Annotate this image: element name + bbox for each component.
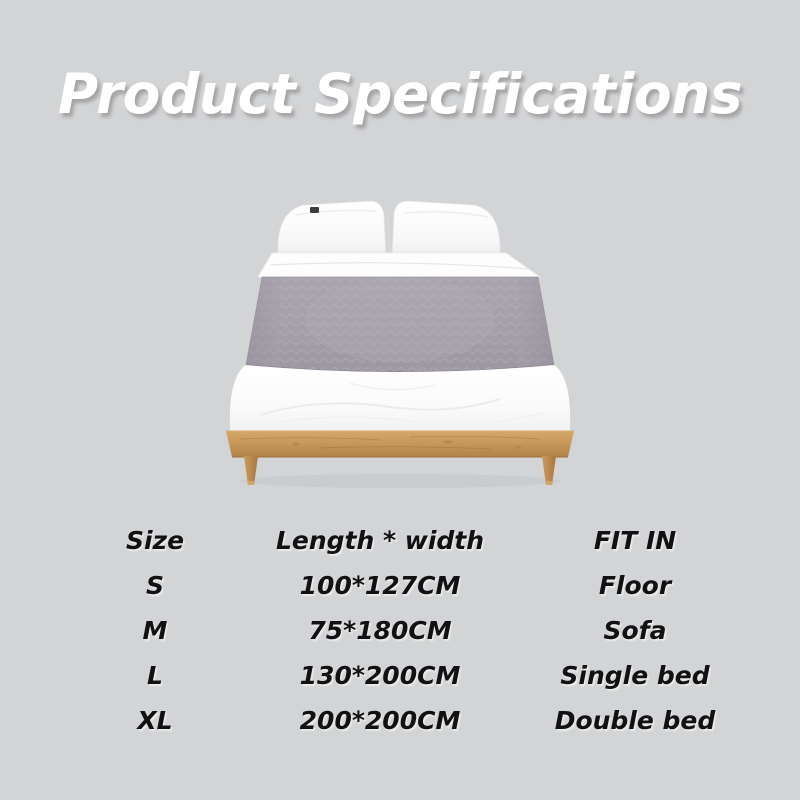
table-row: L 130*200CM Single bed xyxy=(80,653,740,698)
cell-fit-in: Double bed xyxy=(530,698,740,743)
header-size: Size xyxy=(80,518,230,563)
page-title: Product Specifications xyxy=(0,62,800,126)
cell-fit-in: Floor xyxy=(530,563,740,608)
table-row: XL 200*200CM Double bed xyxy=(80,698,740,743)
cell-size: S xyxy=(80,563,230,608)
header-dimensions: Length * width xyxy=(230,518,530,563)
cell-fit-in: Sofa xyxy=(530,608,740,653)
table-header-row: Size Length * width FIT IN xyxy=(80,518,740,563)
cell-fit-in: Single bed xyxy=(530,653,740,698)
specifications-table: Size Length * width FIT IN S 100*127CM F… xyxy=(80,518,740,743)
cell-size: XL xyxy=(80,698,230,743)
table-row: S 100*127CM Floor xyxy=(80,563,740,608)
table-row: M 75*180CM Sofa xyxy=(80,608,740,653)
cell-dimensions: 75*180CM xyxy=(230,608,530,653)
header-fit-in: FIT IN xyxy=(530,518,740,563)
product-image xyxy=(200,185,600,495)
cell-size: L xyxy=(80,653,230,698)
cell-dimensions: 130*200CM xyxy=(230,653,530,698)
cell-dimensions: 200*200CM xyxy=(230,698,530,743)
cell-dimensions: 100*127CM xyxy=(230,563,530,608)
cell-size: M xyxy=(80,608,230,653)
